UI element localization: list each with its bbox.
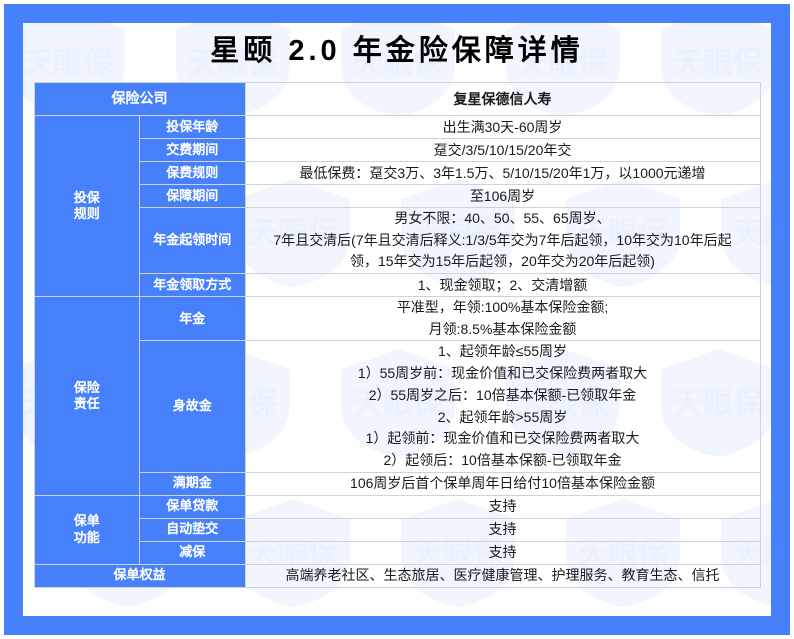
cell-line: 106周岁后首个保单周年日给付10倍基本保险金额 <box>246 473 760 493</box>
cell-line: 高端养老社区、生态旅居、医疗健康管理、护理服务、教育生态、信托 <box>246 565 760 585</box>
row-label: 交费期间 <box>140 139 246 162</box>
table-row: 保险责任年金平准型，年领:100%基本保险金额;月领:8.5%基本保险金额 <box>34 297 760 341</box>
cell-line: 1）起领前：现金价值和已交保险费两者取大 <box>246 428 760 450</box>
table-row: 保险公司复星保德信人寿 <box>34 83 760 116</box>
table-row: 投保规则投保年龄出生满30天-60周岁 <box>34 116 760 139</box>
value-cell: 出生满30天-60周岁 <box>245 116 760 139</box>
cell-line: 1、起领年龄≤55周岁 <box>246 341 760 363</box>
value-cell: 106周岁后首个保单周年日给付10倍基本保险金额 <box>245 472 760 495</box>
value-cell: 支持 <box>245 518 760 541</box>
row-label: 满期金 <box>140 472 246 495</box>
table-row: 年金起领时间男女不限：40、50、55、65周岁、7年且交清后(7年且交清后释义… <box>34 208 760 274</box>
cell-line: 1、现金领取；2、交清增额 <box>246 275 760 295</box>
table-row: 交费期间趸交/3/5/10/15/20年交 <box>34 139 760 162</box>
insurance-detail-table: 保险公司复星保德信人寿投保规则投保年龄出生满30天-60周岁交费期间趸交/3/5… <box>34 82 761 588</box>
cell-line: 1）55周岁前：现金价值和已交保险费两者取大 <box>246 363 760 385</box>
cell-line: 支持 <box>246 496 760 516</box>
cell-line: 男女不限：40、50、55、65周岁、 <box>246 208 760 230</box>
table-row: 减保支持 <box>34 541 760 564</box>
row-label: 年金起领时间 <box>140 208 246 274</box>
cell-line: 领，15年交为15年后起领，20年交为20年后起领) <box>246 251 760 273</box>
cell-line: 7年且交清后(7年且交清后释义:1/3/5年交为7年后起领，10年交为10年后起 <box>246 230 760 252</box>
value-cell: 1、现金领取；2、交清增额 <box>245 274 760 297</box>
row-label: 年金 <box>140 297 246 341</box>
content-area: 天眼保天眼保天眼保天眼保天眼保天眼保天眼保天眼保天眼保天眼保天眼保天眼保天眼保天… <box>23 23 771 616</box>
table-row: 保费规则最低保费：趸交3万、3年1.5万、5/10/15/20年1万，以1000… <box>34 162 760 185</box>
page-root: 天眼保天眼保天眼保天眼保天眼保天眼保天眼保天眼保天眼保天眼保天眼保天眼保天眼保天… <box>0 0 794 639</box>
cell-line: 平准型，年领:100%基本保险金额; <box>246 297 760 319</box>
cell-line: 2、起领年龄>55周岁 <box>246 407 760 429</box>
value-cell: 平准型，年领:100%基本保险金额;月领:8.5%基本保险金额 <box>245 297 760 341</box>
row-label: 保费规则 <box>140 162 246 185</box>
detail-table-wrapper: 保险公司复星保德信人寿投保规则投保年龄出生满30天-60周岁交费期间趸交/3/5… <box>23 82 771 588</box>
row-label: 减保 <box>140 541 246 564</box>
value-cell-benefits: 高端养老社区、生态旅居、医疗健康管理、护理服务、教育生态、信托 <box>245 564 760 587</box>
cell-line: 月领:8.5%基本保险金额 <box>246 319 760 341</box>
value-cell: 支持 <box>245 541 760 564</box>
row-label: 保单贷款 <box>140 495 246 518</box>
cell-line: 趸交/3/5/10/15/20年交 <box>246 140 760 160</box>
value-cell: 支持 <box>245 495 760 518</box>
row-label: 保障期间 <box>140 185 246 208</box>
row-label: 投保年龄 <box>140 116 246 139</box>
value-cell: 趸交/3/5/10/15/20年交 <box>245 139 760 162</box>
value-cell: 至106周岁 <box>245 185 760 208</box>
row-label: 自动垫交 <box>140 518 246 541</box>
cell-line: 出生满30天-60周岁 <box>246 117 760 137</box>
value-cell-company: 复星保德信人寿 <box>245 83 760 116</box>
table-row: 保障期间至106周岁 <box>34 185 760 208</box>
table-body: 保险公司复星保德信人寿投保规则投保年龄出生满30天-60周岁交费期间趸交/3/5… <box>34 83 760 588</box>
cell-line: 2）起领后：10倍基本保额-已领取年金 <box>246 450 760 472</box>
table-row: 自动垫交支持 <box>34 518 760 541</box>
cell-line: 支持 <box>246 542 760 562</box>
value-cell: 1、起领年龄≤55周岁1）55周岁前：现金价值和已交保险费两者取大2）55周岁之… <box>245 341 760 472</box>
cell-line: 支持 <box>246 519 760 539</box>
row-label-benefits: 保单权益 <box>34 564 245 587</box>
table-row: 身故金1、起领年龄≤55周岁1）55周岁前：现金价值和已交保险费两者取大2）55… <box>34 341 760 472</box>
section-label-投保规则: 投保规则 <box>34 116 140 297</box>
value-cell: 最低保费：趸交3万、3年1.5万、5/10/15/20年1万，以1000元递增 <box>245 162 760 185</box>
row-label: 年金领取方式 <box>140 274 246 297</box>
section-label-保险责任: 保险责任 <box>34 297 140 496</box>
table-row: 年金领取方式1、现金领取；2、交清增额 <box>34 274 760 297</box>
page-title: 星颐 2.0 年金险保障详情 <box>23 23 771 82</box>
row-label-company: 保险公司 <box>34 83 245 116</box>
cell-line: 复星保德信人寿 <box>246 89 760 109</box>
table-row: 保单功能保单贷款支持 <box>34 495 760 518</box>
table-row: 保单权益高端养老社区、生态旅居、医疗健康管理、护理服务、教育生态、信托 <box>34 564 760 587</box>
cell-line: 2）55周岁之后：10倍基本保额-已领取年金 <box>246 385 760 407</box>
table-row: 满期金106周岁后首个保单周年日给付10倍基本保险金额 <box>34 472 760 495</box>
cell-line: 最低保费：趸交3万、3年1.5万、5/10/15/20年1万，以1000元递增 <box>246 163 760 183</box>
section-label-保单功能: 保单功能 <box>34 495 140 564</box>
cell-line: 至106周岁 <box>246 186 760 206</box>
row-label: 身故金 <box>140 341 246 472</box>
value-cell: 男女不限：40、50、55、65周岁、7年且交清后(7年且交清后释义:1/3/5… <box>245 208 760 274</box>
